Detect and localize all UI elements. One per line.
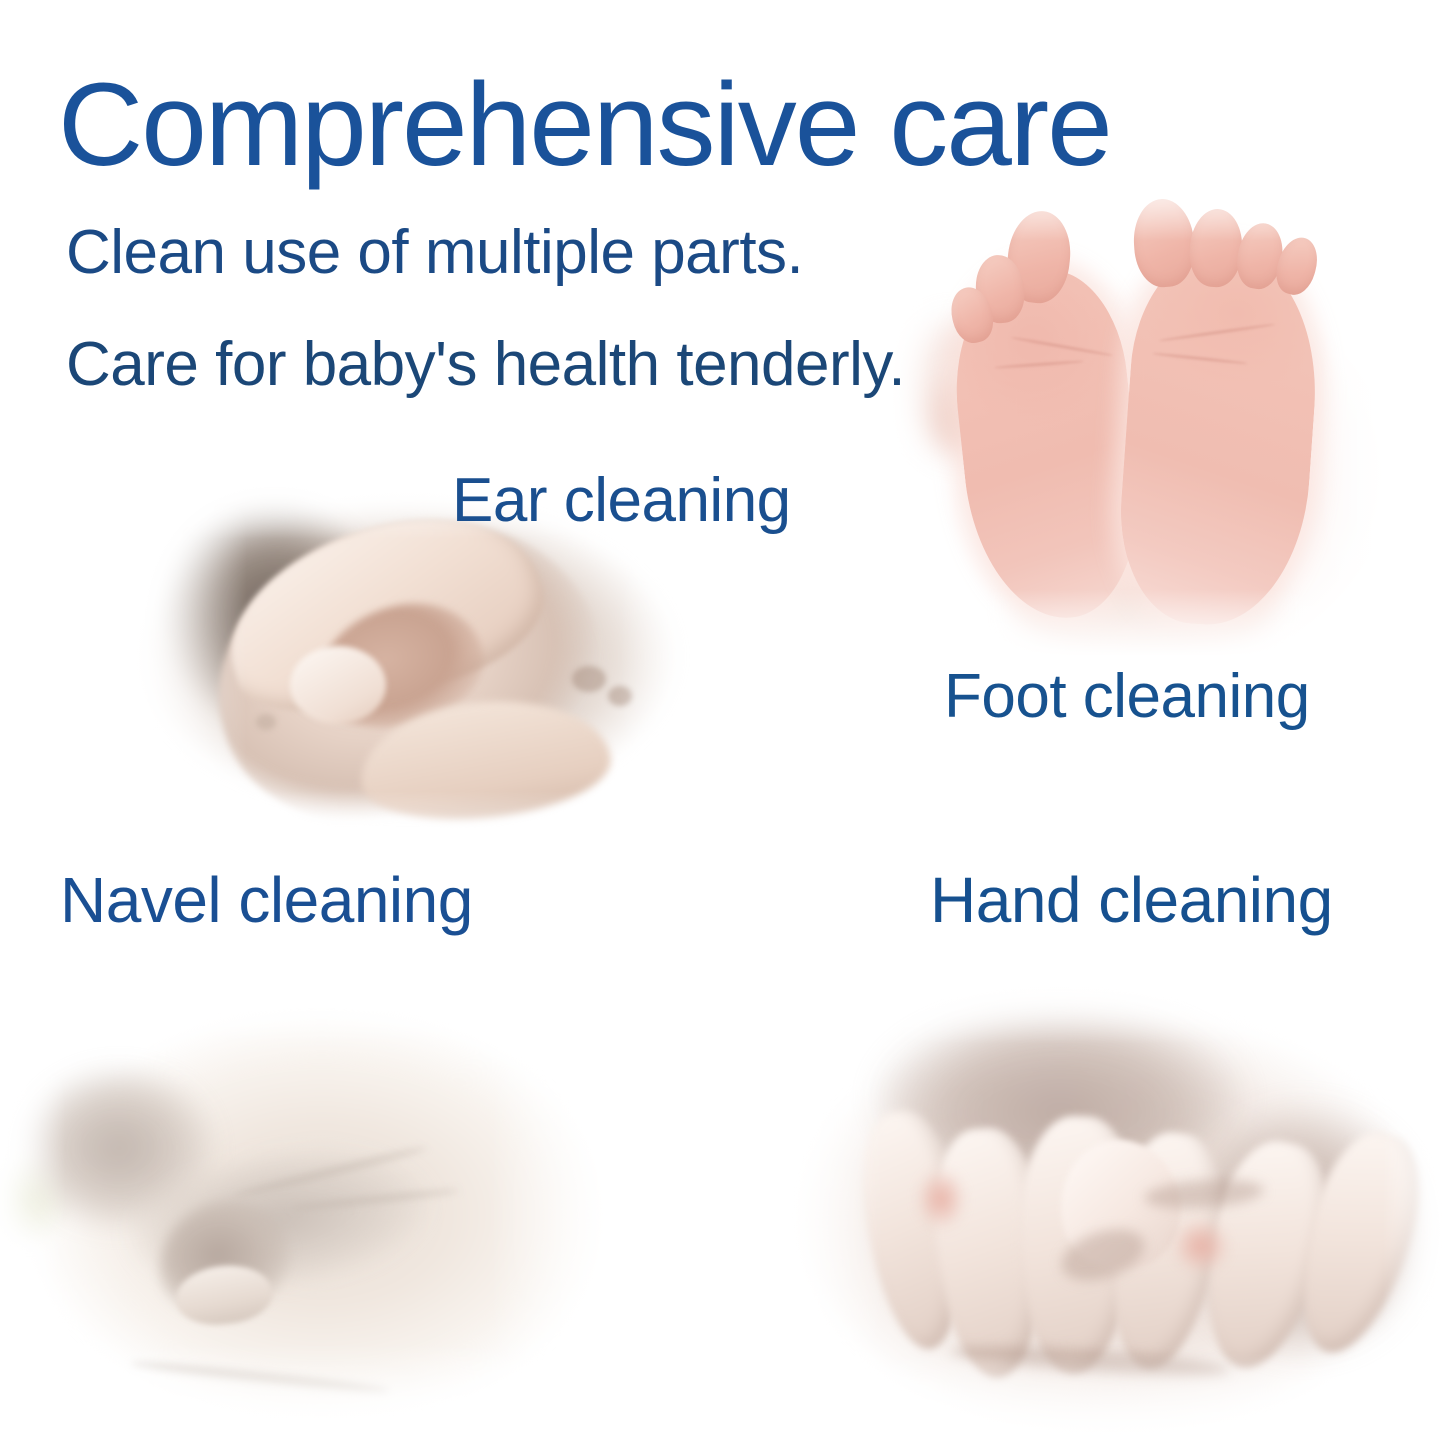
baby-navel-photo xyxy=(0,980,630,1445)
ear-skin-spot xyxy=(572,666,606,692)
label-navel-cleaning: Navel cleaning xyxy=(60,868,473,932)
ear-tragus xyxy=(290,646,386,724)
label-ear-cleaning: Ear cleaning xyxy=(452,470,791,532)
ear-skin-spot xyxy=(608,686,632,706)
baby-hand-photo xyxy=(760,980,1445,1445)
hand-pink-tint xyxy=(1174,1220,1228,1272)
baby-navel-photo-inner xyxy=(0,980,630,1445)
page-title: Comprehensive care xyxy=(58,66,1111,184)
label-hand-cleaning: Hand cleaning xyxy=(930,868,1333,932)
label-foot-cleaning: Foot cleaning xyxy=(944,666,1310,728)
ear-skin-spot xyxy=(256,714,276,730)
product-care-poster: Comprehensive care Clean use of multiple… xyxy=(0,0,1445,1445)
baby-feet-photo-inner xyxy=(890,175,1390,655)
baby-feet-photo xyxy=(890,175,1390,655)
subtitle-line-1: Clean use of multiple parts. xyxy=(66,222,803,284)
subtitle-line-2: Care for baby's health tenderly. xyxy=(66,334,905,396)
baby-hand-photo-inner xyxy=(760,980,1445,1445)
hand-pink-tint xyxy=(918,1170,964,1228)
